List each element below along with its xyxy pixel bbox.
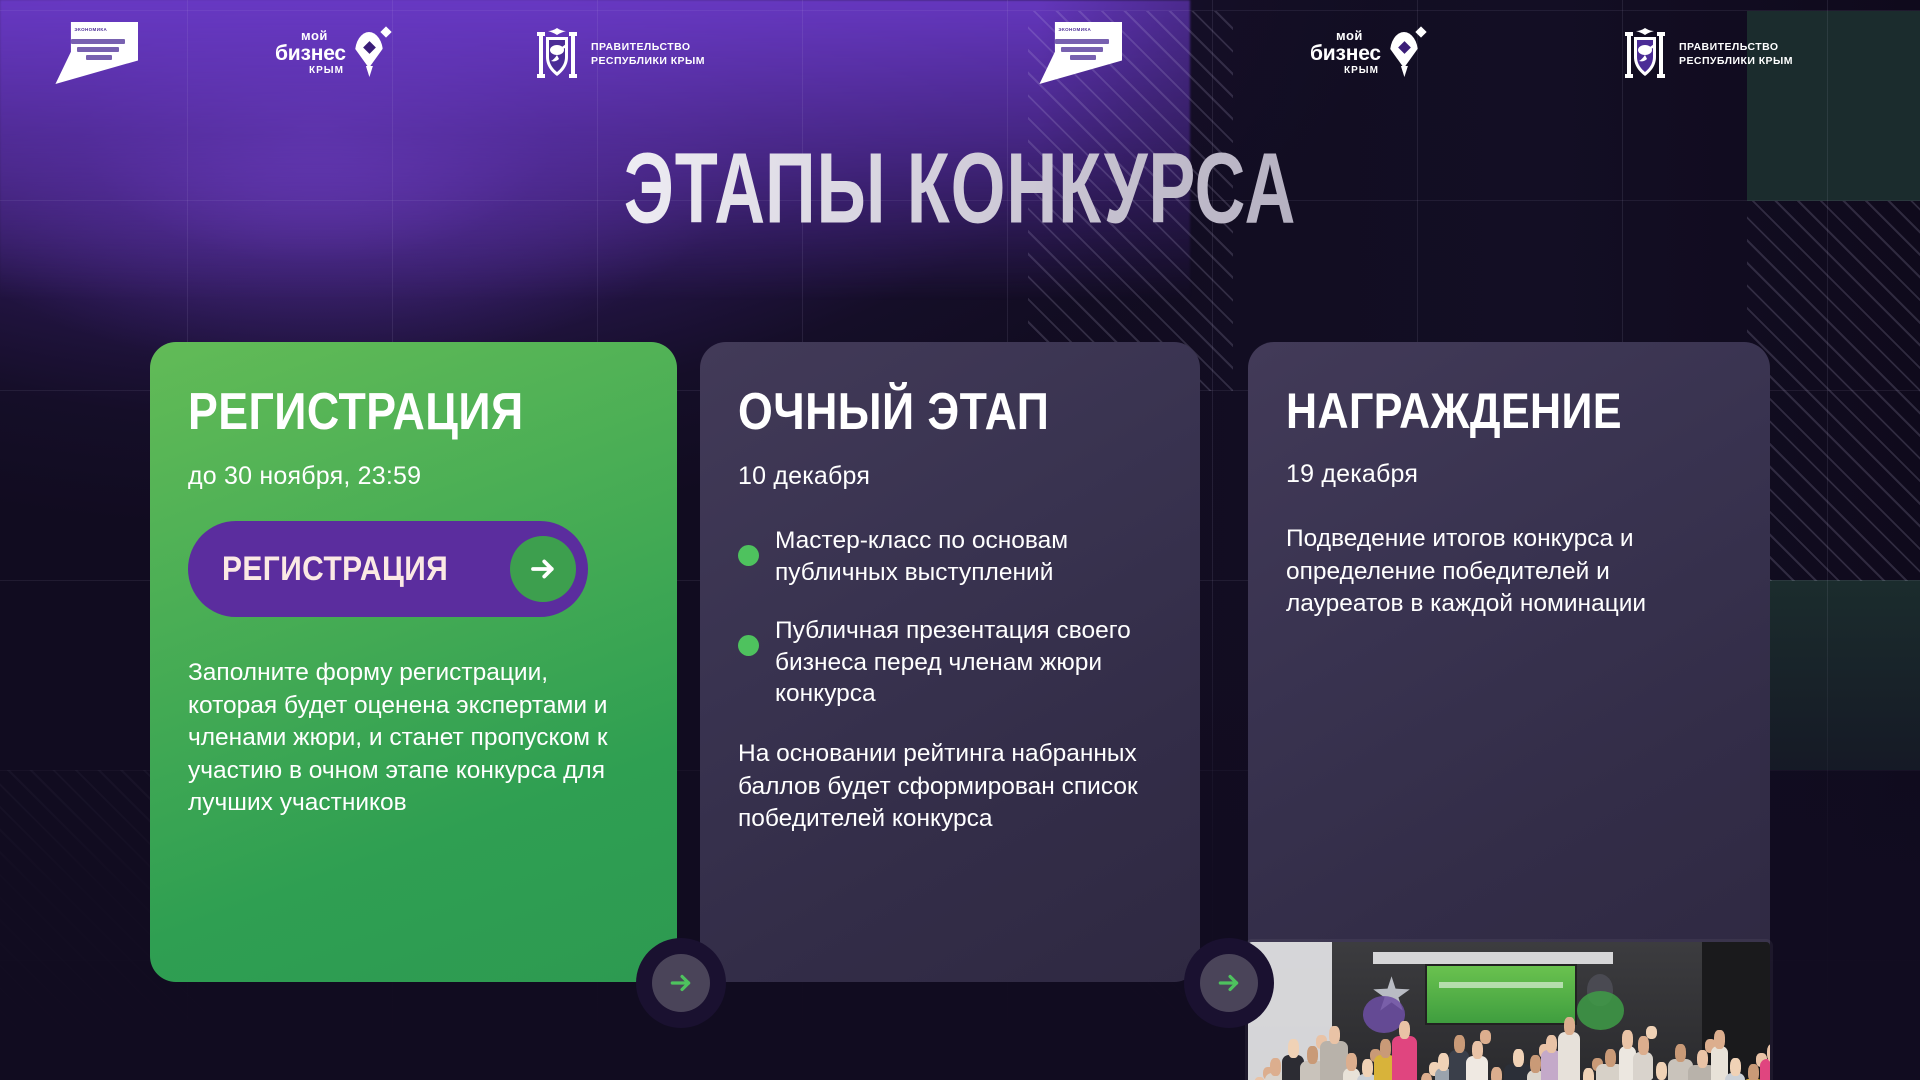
bullet-dot-icon [738,635,759,656]
photo-person-head [1288,1039,1299,1057]
bullet-text: Мастер-класс по основам публичных выступ… [775,525,1162,589]
moy-biznes-line3: КРЫМ [309,66,346,76]
moy-biznes-line2: бизнес [1310,43,1381,64]
stage-card-registration: РЕГИСТРАЦИЯ до 30 ноября, 23:59 РЕГИСТРА… [150,342,677,982]
list-item: Мастер-класс по основам публичных выступ… [738,525,1162,589]
stage-card-in-person: ОЧНЫЙ ЭТАП 10 декабря Мастер-класс по ос… [700,342,1200,982]
photo-person-head [1730,1058,1741,1076]
photo-person-head [1270,1058,1281,1076]
moy-biznes-line1: мой [1336,29,1381,42]
government-crimea-text: ПРАВИТЕЛЬСТВО РЕСПУБЛИКИ КРЫМ [1679,40,1793,68]
rocket-pin-icon [1388,28,1422,76]
arrow-right-icon [652,954,710,1012]
photo-person-head [1638,1036,1649,1054]
photo-person-head [1697,1050,1708,1068]
rocket-pin-icon [353,28,387,76]
registration-button-label: РЕГИСТРАЦИЯ [222,550,448,589]
photo-person-head [1564,1017,1575,1035]
photo-person-head [1380,1039,1391,1057]
arrow-connector-2 [1184,938,1274,1028]
photo-person-head [1307,1046,1318,1064]
photo-person [1466,1056,1488,1080]
awards-ceremony-photo [1248,942,1770,1080]
card-body-awarding: Подведение итогов конкурса и определение… [1286,523,1732,621]
econom-tag-caption: ЭКОНОМИКА [1058,27,1091,32]
moy-biznes-logo-1: мой бизнес КРЫМ [275,28,387,76]
photo-person [1392,1036,1417,1080]
photo-person-head [1472,1041,1483,1059]
photo-person-head [1438,1053,1449,1071]
bullet-dot-icon [738,545,759,566]
card-title-awarding: НАГРАЖДЕНИЕ [1286,386,1670,436]
moy-biznes-wordmark: мой бизнес КРЫМ [1310,29,1381,76]
card-date-awarding: 19 декабря [1286,460,1732,489]
registration-button[interactable]: РЕГИСТРАЦИЯ [188,521,588,617]
stages-container: РЕГИСТРАЦИЯ до 30 ноября, 23:59 РЕГИСТРА… [0,342,1920,982]
card-date-in-person: 10 декабря [738,462,1162,491]
photo-person-head [1546,1035,1557,1053]
government-line2: РЕСПУБЛИКИ КРЫМ [1679,54,1793,68]
econom-tag-logo-2: ЭКОНОМИКА [1036,22,1122,84]
photo-person-head [1622,1030,1633,1048]
moy-biznes-logo-2: мой бизнес КРЫМ [1310,28,1422,76]
photo-person-head [1329,1026,1340,1044]
photo-person-head [1362,1059,1373,1077]
econom-tag-logo-1: ЭКОНОМИКА [52,22,138,84]
econom-tag-icon: ЭКОНОМИКА [52,22,138,84]
photo-person-head [1530,1055,1541,1073]
crimea-crest-icon [1621,24,1669,84]
arrow-right-icon [1200,954,1258,1012]
moy-biznes-line2: бизнес [275,43,346,64]
econom-tag-caption: ЭКОНОМИКА [74,27,107,32]
card-body-registration: Заполните форму регистрации, которая буд… [188,657,639,820]
moy-biznes-line1: мой [301,29,346,42]
photo-person-head [1513,1049,1524,1067]
bullet-text: Публичная презентация своего бизнеса пер… [775,615,1162,711]
bullet-list: Мастер-класс по основам публичных выступ… [738,525,1162,710]
photo-raised-hand [1646,1026,1657,1040]
photo-person-head [1454,1035,1465,1053]
card-note-in-person: На основании рейтинга набранных баллов б… [738,738,1162,836]
photo-raised-hand [1480,1030,1491,1044]
government-crimea-logo-2: ПРАВИТЕЛЬСТВО РЕСПУБЛИКИ КРЫМ [1621,24,1793,84]
photo-person-head [1714,1030,1725,1048]
arrow-right-icon [510,536,576,602]
government-crimea-logo-1: ПРАВИТЕЛЬСТВО РЕСПУБЛИКИ КРЫМ [533,24,705,84]
photo-person-head [1748,1064,1759,1080]
card-title-in-person: ОЧНЫЙ ЭТАП [738,386,1103,438]
logo-bar: ЭКОНОМИКА мой бизнес КРЫМ [0,0,1920,108]
econom-tag-icon: ЭКОНОМИКА [1036,22,1122,84]
arrow-connector-1 [636,938,726,1028]
photo-person-head [1583,1068,1594,1080]
government-line1: ПРАВИТЕЛЬСТВО [1679,40,1793,54]
photo-person-head [1605,1049,1616,1067]
list-item: Публичная презентация своего бизнеса пер… [738,615,1162,711]
photo-person-head [1767,1044,1770,1062]
photo-person [1558,1032,1580,1080]
photo-person-head [1675,1044,1686,1062]
page-title: ЭТАПЫ КОНКУРСА [173,132,1747,247]
photo-person-head [1656,1062,1667,1080]
government-line1: ПРАВИТЕЛЬСТВО [591,40,705,54]
stage-card-awarding: НАГРАЖДЕНИЕ 19 декабря Подведение итогов… [1248,342,1770,982]
photo-person [1760,1059,1770,1080]
card-date-registration: до 30 ноября, 23:59 [188,462,639,491]
government-crimea-text: ПРАВИТЕЛЬСТВО РЕСПУБЛИКИ КРЫМ [591,40,705,68]
photo-person [1633,1052,1653,1080]
government-line2: РЕСПУБЛИКИ КРЫМ [591,54,705,68]
photo-person-head [1346,1053,1357,1071]
moy-biznes-line3: КРЫМ [1344,66,1381,76]
moy-biznes-wordmark: мой бизнес КРЫМ [275,29,346,76]
crimea-crest-icon [533,24,581,84]
photo-person-head [1491,1067,1502,1080]
photo-person-head [1399,1021,1410,1039]
card-title-registration: РЕГИСТРАЦИЯ [188,386,576,438]
